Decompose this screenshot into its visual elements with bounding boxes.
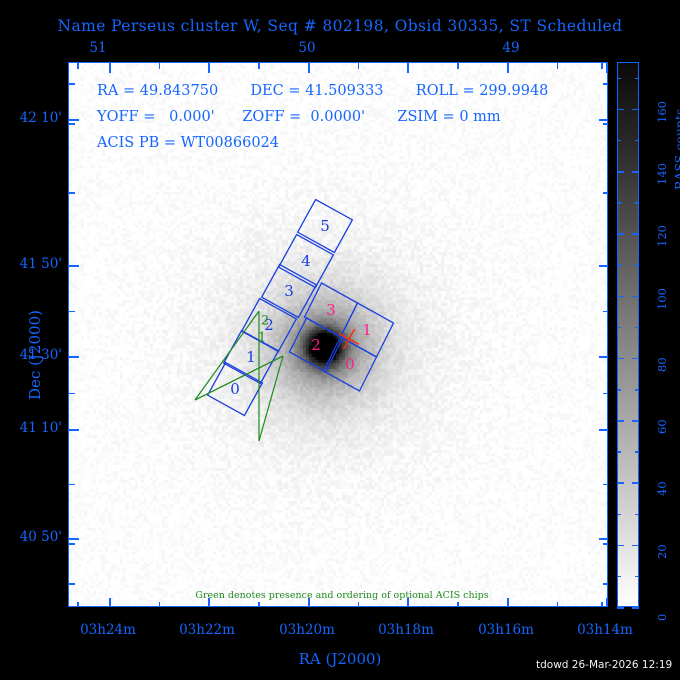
- tick-mark: [358, 602, 360, 607]
- tick-mark: [603, 583, 608, 585]
- green-order-line: [259, 356, 283, 441]
- tick-mark: [308, 63, 310, 73]
- tick-mark: [601, 602, 603, 607]
- colorbar-minor-tick: [635, 202, 639, 204]
- tick-mark: [603, 543, 608, 545]
- tick-mark: [69, 123, 75, 125]
- colorbar-tick: [632, 420, 639, 422]
- colorbar-tick: [632, 358, 639, 360]
- tick-mark: [69, 393, 75, 395]
- colorbar-tick-label: 120: [655, 225, 669, 247]
- tick-mark: [258, 63, 260, 69]
- tick-mark: [69, 538, 79, 540]
- colorbar-minor-tick: [617, 514, 621, 516]
- tick-mark: [603, 192, 608, 194]
- y-axis-title: Dec (J2000): [26, 310, 44, 400]
- top-tick-label: 50: [298, 40, 315, 56]
- colorbar-minor-tick: [635, 327, 639, 329]
- tick-mark: [69, 356, 79, 358]
- tick-mark: [457, 602, 459, 607]
- tick-mark: [69, 265, 79, 267]
- tick-mark: [258, 602, 260, 607]
- acis-s-chip-label-1: 1: [246, 348, 256, 366]
- colorbar-minor-tick: [617, 78, 621, 80]
- obsvis-screenshot: Name Perseus cluster W, Seq # 802198, Ob…: [0, 0, 680, 680]
- tick-mark: [557, 63, 559, 69]
- colorbar-tick: [617, 482, 624, 484]
- tick-mark: [69, 83, 75, 85]
- bottom-tick-label: 03h22m: [179, 622, 235, 638]
- green-legend-note: Green denotes presence and ordering of o…: [195, 590, 488, 601]
- colorbar-tick: [617, 296, 624, 298]
- tick-mark: [599, 538, 608, 540]
- colorbar-tick-label: 20: [655, 544, 669, 559]
- left-tick-label: 41 50': [20, 256, 62, 272]
- left-tick-label: 41 10': [20, 420, 62, 436]
- tick-mark: [507, 63, 509, 73]
- colorbar-minor-tick: [635, 451, 639, 453]
- colorbar-minor-tick: [635, 264, 639, 266]
- colorbar-tick: [617, 233, 624, 235]
- acis-i-chip-label-1: 1: [362, 321, 372, 339]
- bottom-tick-label: 03h20m: [279, 622, 335, 638]
- tick-mark: [599, 265, 608, 267]
- tick-mark: [69, 192, 75, 194]
- tick-mark: [599, 119, 608, 121]
- param-line-offsets: YOFF = 0.000' ZOFF = 0.0000' ZSIM = 0 mm: [97, 109, 501, 125]
- colorbar-tick: [617, 109, 624, 111]
- colorbar-tick: [617, 171, 624, 173]
- tick-mark: [601, 63, 603, 69]
- colorbar-tick: [617, 545, 624, 547]
- acis-i-chip-label-0: 0: [345, 355, 355, 373]
- colorbar-minor-tick: [617, 576, 621, 578]
- colorbar-tick-label: 160: [655, 101, 669, 123]
- colorbar-minor-tick: [617, 202, 621, 204]
- tick-mark: [603, 484, 608, 486]
- tick-mark: [77, 602, 79, 607]
- top-tick-label: 49: [502, 40, 519, 56]
- colorbar-minor-tick: [617, 451, 621, 453]
- colorbar-tick: [617, 607, 624, 609]
- param-line-acis-pb: ACIS PB = WT00866024: [97, 135, 279, 151]
- tick-mark: [606, 598, 608, 607]
- colorbar-tick: [617, 358, 624, 360]
- colorbar-tick: [632, 482, 639, 484]
- timestamp-stamp: tdowd 26-Mar-2026 12:19: [536, 659, 672, 671]
- optional-chip-order-label-1: 1: [258, 331, 266, 346]
- colorbar-tick: [632, 233, 639, 235]
- tick-mark: [69, 119, 79, 121]
- tick-mark: [69, 543, 75, 545]
- colorbar-tick-label: 80: [655, 357, 669, 372]
- tick-mark: [69, 311, 75, 313]
- tick-mark: [358, 63, 360, 69]
- rass-sky-image: 012345312021 RA = 49.843750 DEC = 41.509…: [69, 63, 607, 606]
- acis-i-footprint[interactable]: [290, 283, 394, 391]
- tick-mark: [407, 63, 409, 73]
- param-line-ra-dec-roll: RA = 49.843750 DEC = 41.509333 ROLL = 29…: [97, 83, 548, 99]
- tick-mark: [603, 393, 608, 395]
- colorbar-minor-tick: [635, 514, 639, 516]
- page-title: Name Perseus cluster W, Seq # 802198, Ob…: [0, 17, 680, 35]
- colorbar-tick-label: 140: [655, 163, 669, 185]
- top-tick-label: 51: [89, 40, 106, 56]
- colorbar-minor-tick: [617, 327, 621, 329]
- acis-s-chip-label-4: 4: [301, 252, 311, 270]
- tick-mark: [599, 429, 608, 431]
- acis-s-chip-label-3: 3: [284, 282, 294, 300]
- colorbar-title: RASS counts: [672, 109, 680, 190]
- colorbar-minor-tick: [635, 78, 639, 80]
- colorbar-tick: [632, 545, 639, 547]
- tick-mark: [159, 63, 161, 69]
- tick-mark: [208, 63, 210, 73]
- colorbar-tick-label: 40: [655, 482, 669, 497]
- colorbar-tick: [617, 420, 624, 422]
- colorbar-tick-label: 100: [655, 288, 669, 310]
- acis-i-chip-label-3: 3: [326, 301, 336, 319]
- tick-mark: [69, 583, 75, 585]
- colorbar-minor-tick: [635, 389, 639, 391]
- tick-mark: [457, 63, 459, 69]
- tick-mark: [603, 83, 608, 85]
- tick-mark: [599, 356, 608, 358]
- tick-mark: [69, 429, 79, 431]
- colorbar-tick-label: 0: [655, 614, 669, 621]
- sky-plot-frame[interactable]: 012345312021 RA = 49.843750 DEC = 41.509…: [68, 62, 608, 607]
- colorbar-minor-tick: [617, 140, 621, 142]
- bottom-tick-label: 03h24m: [80, 622, 136, 638]
- tick-mark: [77, 63, 79, 69]
- tick-mark: [603, 123, 608, 125]
- bottom-tick-label: 03h16m: [478, 622, 534, 638]
- colorbar: [617, 62, 639, 607]
- bottom-tick-label: 03h18m: [378, 622, 434, 638]
- bottom-tick-label: 03h14m: [577, 622, 633, 638]
- tick-mark: [606, 63, 608, 73]
- acis-s-chip-label-0: 0: [230, 380, 240, 398]
- optional-chip-order-label-2: 2: [261, 314, 269, 329]
- tick-mark: [603, 311, 608, 313]
- tick-mark: [109, 598, 111, 607]
- tick-mark: [159, 602, 161, 607]
- tick-mark: [557, 602, 559, 607]
- tick-mark: [109, 63, 111, 73]
- colorbar-minor-tick: [635, 576, 639, 578]
- colorbar-minor-tick: [617, 389, 621, 391]
- acis-i-chip-label-2: 2: [311, 336, 321, 354]
- tick-mark: [507, 598, 509, 607]
- colorbar-minor-tick: [617, 264, 621, 266]
- colorbar-tick: [632, 171, 639, 173]
- colorbar-tick: [632, 607, 639, 609]
- colorbar-tick: [632, 296, 639, 298]
- acis-s-chip-label-5: 5: [320, 217, 330, 235]
- colorbar-tick-label: 60: [655, 420, 669, 435]
- tick-mark: [69, 484, 75, 486]
- left-tick-label: 40 50': [20, 529, 62, 545]
- left-tick-label: 42 10': [20, 110, 62, 126]
- colorbar-tick: [632, 109, 639, 111]
- colorbar-minor-tick: [635, 140, 639, 142]
